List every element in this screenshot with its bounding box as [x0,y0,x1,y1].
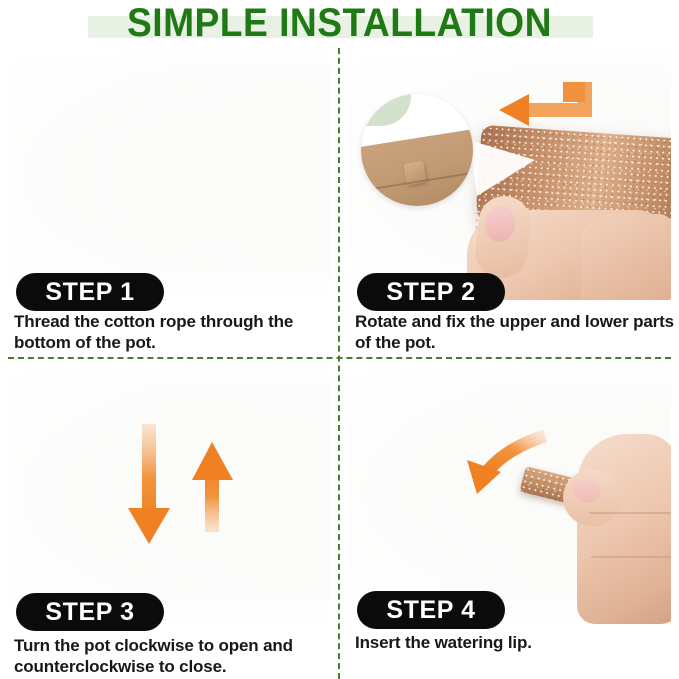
step-1-photo [8,48,330,300]
step-2-photo [349,48,671,300]
arrow-up-icon [8,362,330,624]
step-1-badge: STEP 1 [16,273,164,311]
step-4-caption: Insert the watering lip. [355,632,675,653]
step-panel-1: STEP 1 Thread the cotton rope through th… [0,46,338,357]
title-text: SIMPLE INSTALLATION [127,2,552,44]
step-3-badge: STEP 3 [16,593,164,631]
step-panel-3: STEP 3 Turn the pot clockwise to open an… [0,360,338,679]
page-title: SIMPLE INSTALLATION [0,0,679,46]
infographic-page: SIMPLE INSTALLATION [0,0,679,679]
arrow-curved-down-icon [349,362,671,624]
step-3-photo [8,362,330,624]
step-3-caption: Turn the pot clockwise to open and count… [14,635,334,677]
steps-grid: STEP 1 Thread the cotton rope through th… [0,46,679,679]
step-panel-4: STEP 4 Insert the watering lip. [341,360,679,679]
step-4-photo [349,362,671,624]
step-panel-2: STEP 2 Rotate and fix the upper and lowe… [341,46,679,357]
step-1-caption: Thread the cotton rope through the botto… [14,311,334,353]
step-2-caption: Rotate and fix the upper and lower parts… [355,311,675,353]
step-3-badge-label: STEP 3 [45,600,134,625]
step-1-badge-label: STEP 1 [45,280,134,305]
arrow-curved-up-left-icon [8,48,330,300]
arrow-bent-left-icon [349,48,671,300]
